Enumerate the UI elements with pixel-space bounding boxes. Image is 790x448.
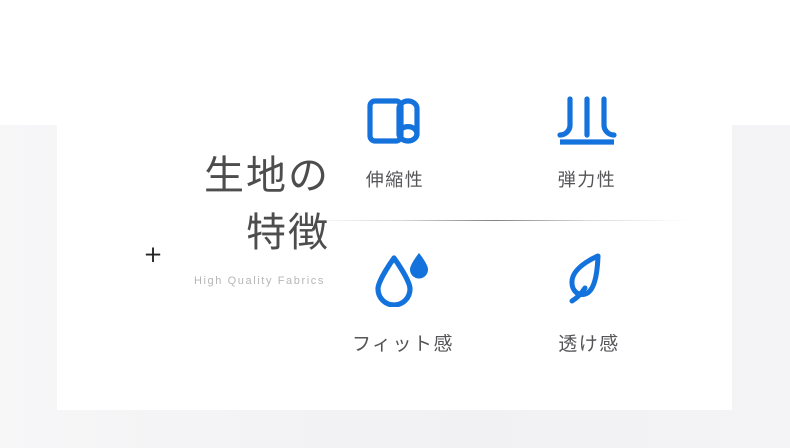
slide-canvas: 生地の 特徴 High Quality Fabrics + 伸縮性 bbox=[0, 0, 790, 448]
water-drop-icon bbox=[318, 243, 488, 315]
feature-grid: 伸縮性 弾力性 bbox=[300, 85, 692, 385]
feature-item-elasticity[interactable]: 弾力性 bbox=[502, 85, 672, 192]
feature-item-fit[interactable]: フィット感 bbox=[318, 243, 488, 356]
feature-label: フィット感 bbox=[318, 329, 488, 356]
leaf-icon bbox=[504, 243, 674, 315]
fabric-roll-icon bbox=[310, 85, 480, 157]
page-subtitle: High Quality Fabrics bbox=[115, 275, 325, 287]
elasticity-spring-icon bbox=[502, 85, 672, 157]
feature-item-stretch[interactable]: 伸縮性 bbox=[310, 85, 480, 192]
feature-label: 弾力性 bbox=[502, 166, 672, 192]
feature-label: 透け感 bbox=[504, 329, 674, 356]
content-card: 生地の 特徴 High Quality Fabrics + 伸縮性 bbox=[57, 18, 732, 410]
feature-label: 伸縮性 bbox=[310, 166, 480, 192]
feature-item-sheerness[interactable]: 透け感 bbox=[504, 243, 674, 356]
page-title-line-1: 生地の bbox=[115, 148, 330, 205]
plus-icon: + bbox=[143, 243, 163, 267]
